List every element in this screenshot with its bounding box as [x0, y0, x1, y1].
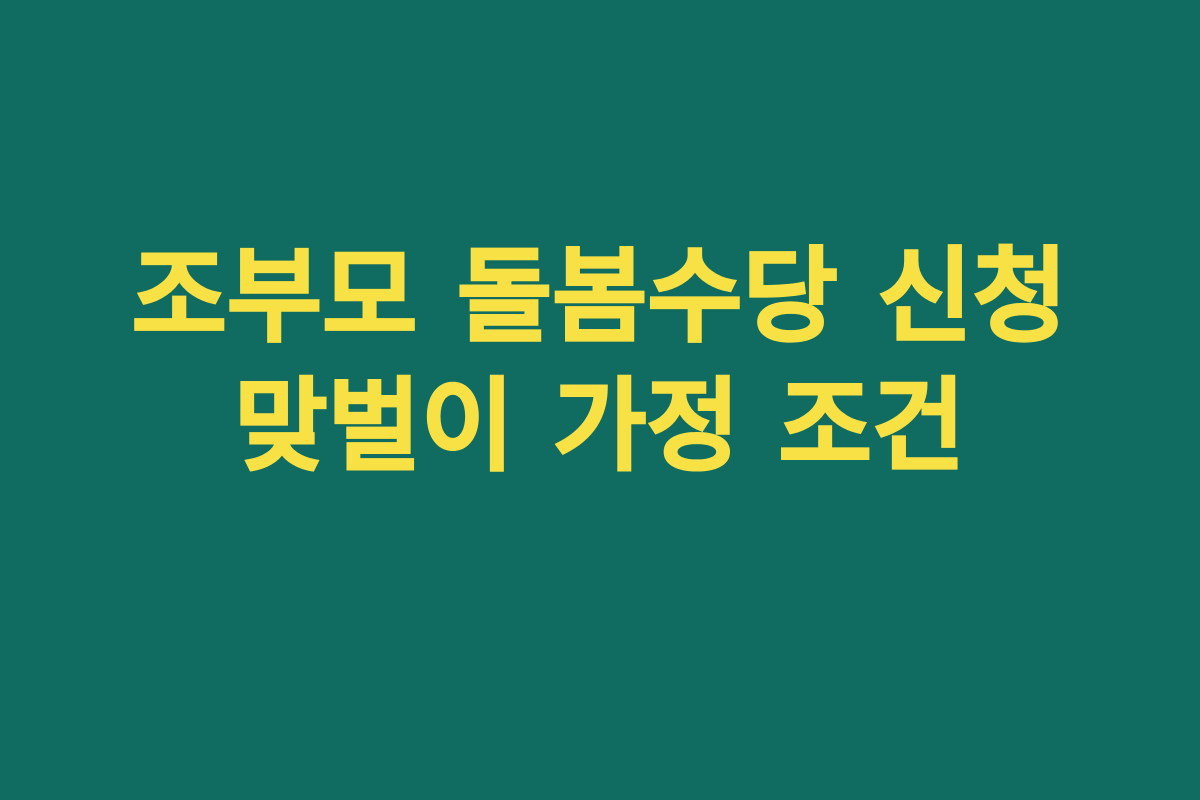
headline-line-1: 조부모 돌봄수당 신청 [40, 232, 1160, 362]
headline-block: 조부모 돌봄수당 신청 맞벌이 가정 조건 [0, 232, 1200, 492]
headline-line-2: 맞벌이 가정 조건 [40, 362, 1160, 492]
banner-canvas: 조부모 돌봄수당 신청 맞벌이 가정 조건 [0, 0, 1200, 800]
